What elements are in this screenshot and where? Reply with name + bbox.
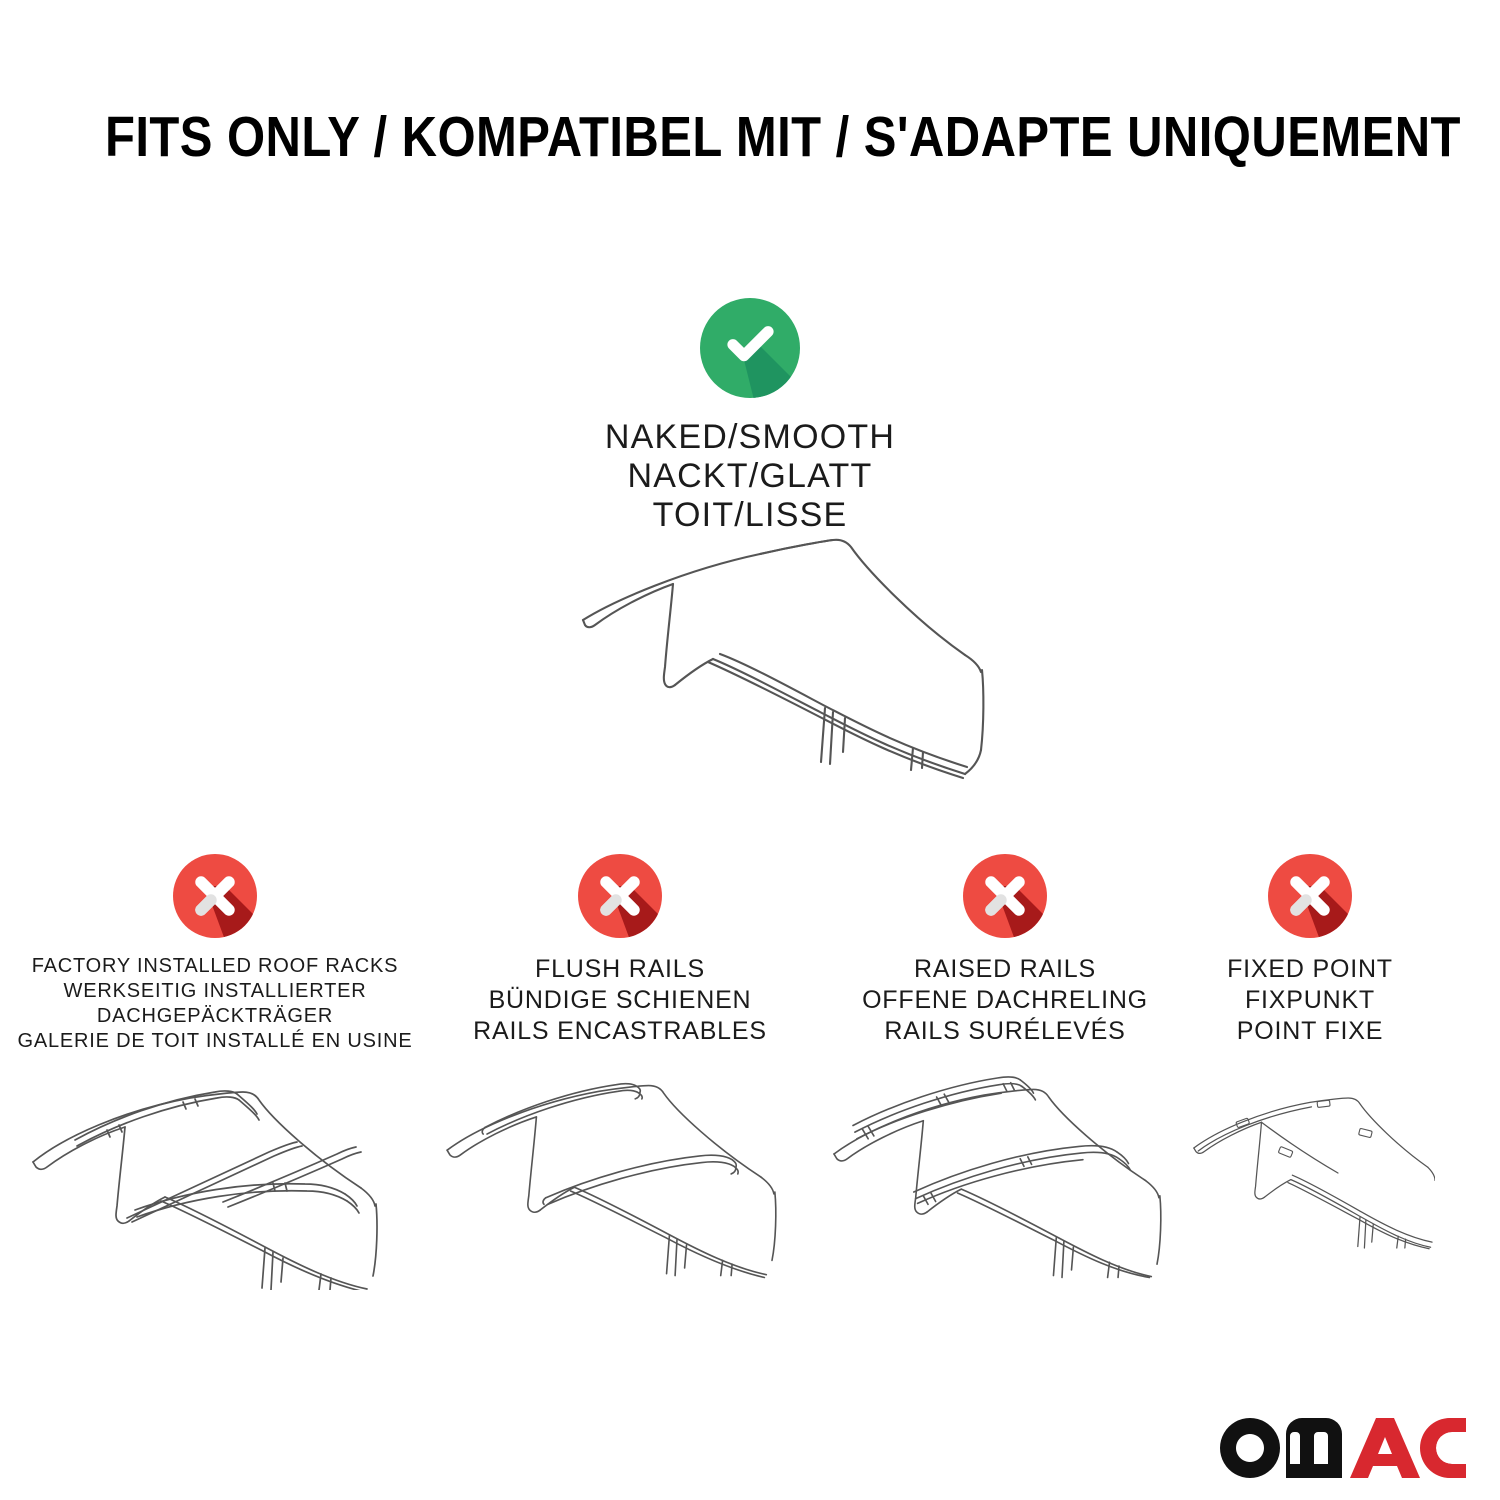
incompatible-item-flush-rails: FLUSH RAILS BÜNDIGE SCHIENEN RAILS ENCAS… xyxy=(430,852,810,1283)
label-de-1: WERKSEITIG INSTALLIERTER xyxy=(15,979,415,1004)
label-de-1: OFFENE DACHRELING xyxy=(815,985,1195,1016)
label-fr: POINT FIXE xyxy=(1185,1016,1435,1047)
x-circle-icon xyxy=(171,852,259,940)
logo-letter-m xyxy=(1286,1418,1342,1478)
incompatible-label: FLUSH RAILS BÜNDIGE SCHIENEN RAILS ENCAS… xyxy=(430,954,810,1047)
car-roof-fixed-point-figure xyxy=(1185,1063,1435,1283)
incompatible-list: FACTORY INSTALLED ROOF RACKS WERKSEITIG … xyxy=(0,852,1500,1452)
x-circle-icon xyxy=(1266,852,1354,940)
incompatible-item-raised-rails: RAISED RAILS OFFENE DACHRELING RAILS SUR… xyxy=(815,852,1195,1283)
x-badge-wrap xyxy=(815,852,1195,940)
label-de-1: BÜNDIGE SCHIENEN xyxy=(430,985,810,1016)
incompatible-label: FIXED POINT FIXPUNKT POINT FIXE xyxy=(1185,954,1435,1047)
label-en: FACTORY INSTALLED ROOF RACKS xyxy=(15,954,415,979)
x-badge-wrap xyxy=(430,852,810,940)
car-roof-naked-smooth-figure xyxy=(495,512,1025,802)
label-en: RAISED RAILS xyxy=(815,954,1195,985)
incompatible-label: RAISED RAILS OFFENE DACHRELING RAILS SUR… xyxy=(815,954,1195,1047)
label-en: FLUSH RAILS xyxy=(430,954,810,985)
car-roof-raised-rails-figure xyxy=(815,1063,1195,1283)
label-de-1: FIXPUNKT xyxy=(1185,985,1435,1016)
x-circle-icon xyxy=(576,852,664,940)
logo-letter-o xyxy=(1220,1418,1280,1478)
label-fr: RAILS ENCASTRABLES xyxy=(430,1016,810,1047)
car-roof-flush-rails-figure xyxy=(430,1063,810,1283)
compatibility-infographic: FITS ONLY / KOMPATIBEL MIT / S'ADAPTE UN… xyxy=(0,0,1500,1500)
x-badge-wrap xyxy=(1185,852,1435,940)
car-roof-factory-rack-figure xyxy=(15,1070,415,1290)
label-en: FIXED POINT xyxy=(1185,954,1435,985)
check-circle-icon xyxy=(698,296,802,400)
incompatible-item-fixed-point: FIXED POINT FIXPUNKT POINT FIXE xyxy=(1185,852,1435,1283)
incompatible-item-factory-rack: FACTORY INSTALLED ROOF RACKS WERKSEITIG … xyxy=(15,852,415,1290)
x-circle-icon xyxy=(961,852,1049,940)
compatible-label-en: NAKED/SMOOTH xyxy=(530,418,970,457)
label-fr: RAILS SURÉLEVÉS xyxy=(815,1016,1195,1047)
label-de-2: DACHGEPÄCKTRÄGER xyxy=(15,1004,415,1029)
incompatible-label: FACTORY INSTALLED ROOF RACKS WERKSEITIG … xyxy=(15,954,415,1054)
omac-logo xyxy=(1216,1412,1466,1484)
logo-letter-c xyxy=(1420,1418,1466,1478)
compatible-block: NAKED/SMOOTH NACKT/GLATT TOIT/LISSE xyxy=(530,296,970,535)
page-title: FITS ONLY / KOMPATIBEL MIT / S'ADAPTE UN… xyxy=(105,104,1395,170)
label-fr: GALERIE DE TOIT INSTALLÉ EN USINE xyxy=(15,1029,415,1054)
logo-letter-a xyxy=(1350,1418,1420,1478)
compatible-label-de: NACKT/GLATT xyxy=(530,457,970,496)
x-badge-wrap xyxy=(15,852,415,940)
